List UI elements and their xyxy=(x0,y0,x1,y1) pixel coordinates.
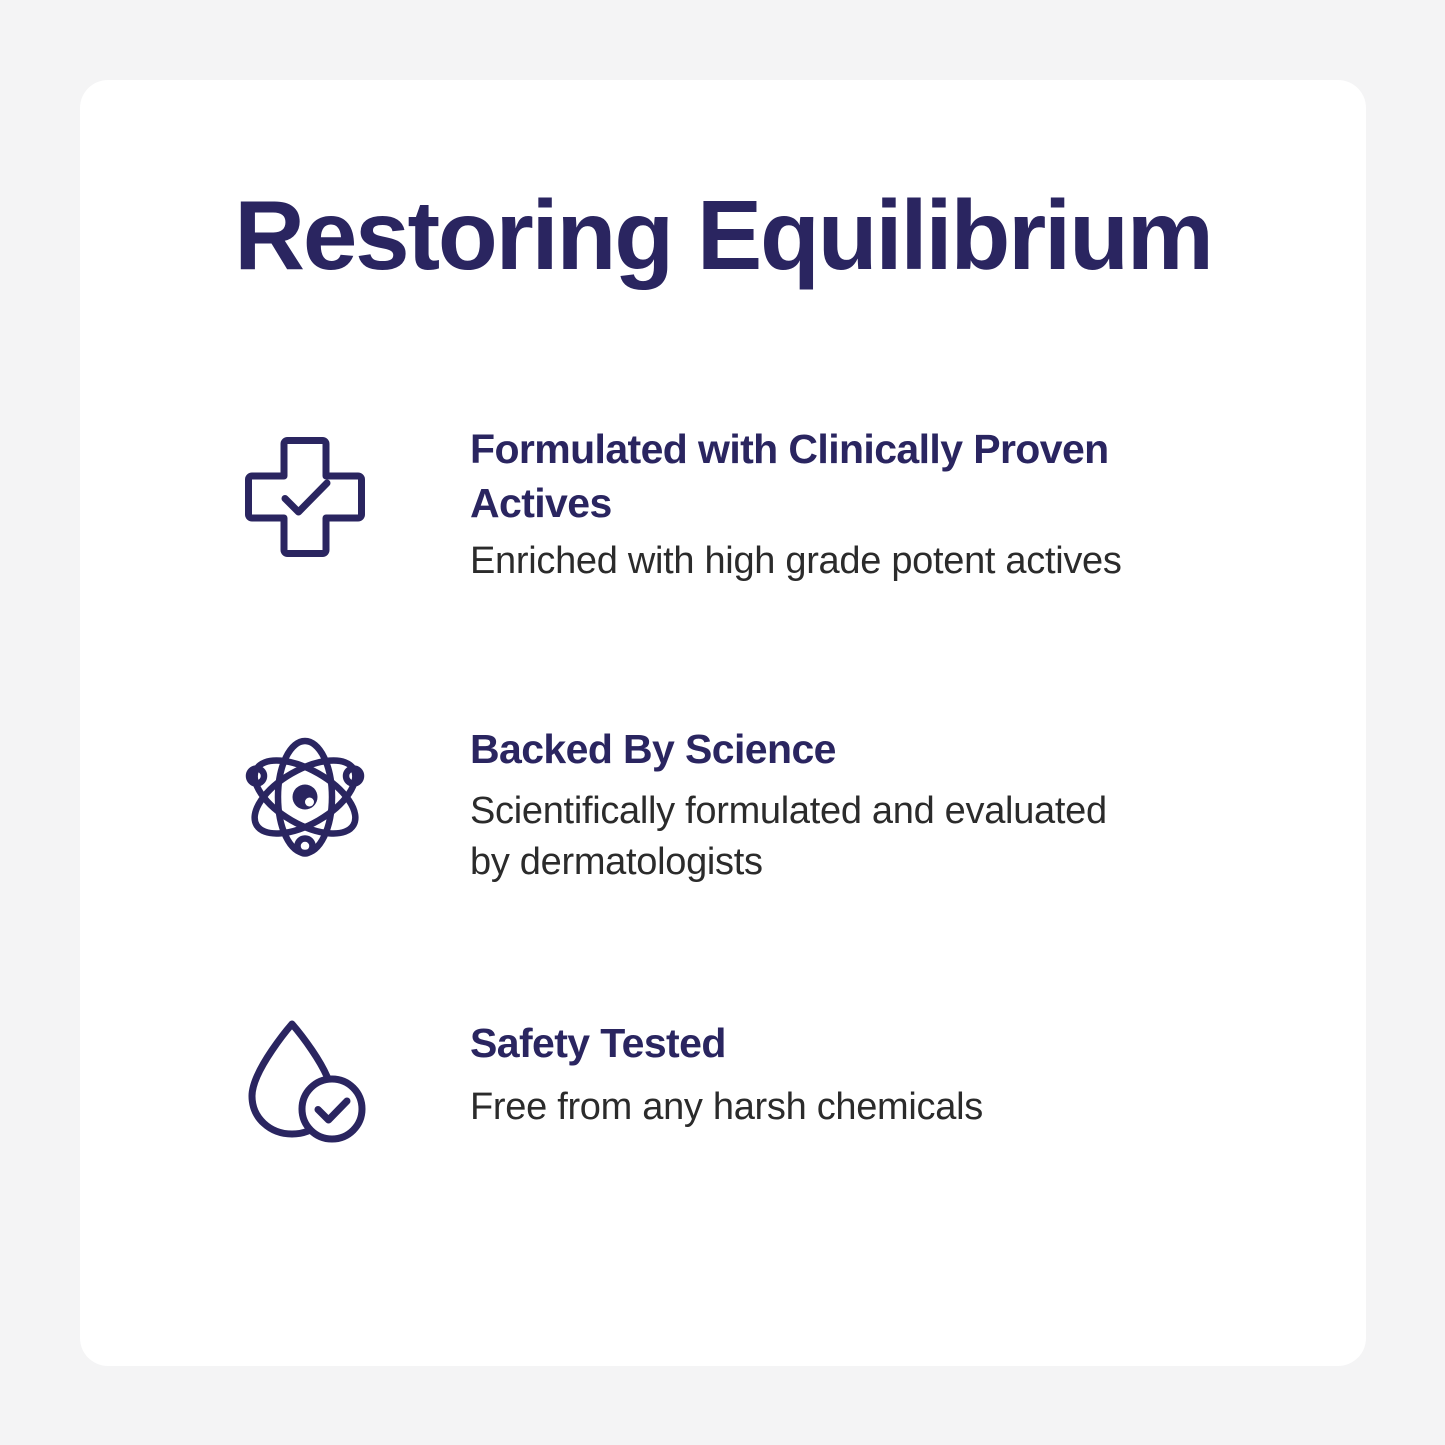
feature-text-block: Safety Tested Free from any harsh chemic… xyxy=(375,1010,1145,1133)
feature-item-formulated: Formulated with Clinically Proven Active… xyxy=(80,420,1366,720)
medical-cross-check-icon xyxy=(240,432,375,567)
feature-card: Restoring Equilibrium Formulated with Cl… xyxy=(80,80,1366,1366)
feature-heading: Safety Tested xyxy=(470,1016,1145,1070)
feature-item-science: Backed By Science Scientifically formula… xyxy=(80,720,1366,1010)
feature-description: Enriched with high grade potent actives xyxy=(470,536,1145,587)
feature-description: Scientifically formulated and evaluated … xyxy=(470,786,1145,887)
feature-heading: Formulated with Clinically Proven Active… xyxy=(470,422,1145,530)
feature-item-safety: Safety Tested Free from any harsh chemic… xyxy=(80,1010,1366,1210)
feature-text-block: Formulated with Clinically Proven Active… xyxy=(375,420,1145,587)
water-droplet-check-icon xyxy=(240,1014,375,1149)
feature-description: Free from any harsh chemicals xyxy=(470,1082,1145,1133)
feature-heading: Backed By Science xyxy=(470,722,1145,776)
feature-list: Formulated with Clinically Proven Active… xyxy=(80,420,1366,1210)
atom-icon xyxy=(240,732,375,867)
feature-text-block: Backed By Science Scientifically formula… xyxy=(375,720,1145,887)
page-root: Restoring Equilibrium Formulated with Cl… xyxy=(0,0,1445,1445)
page-title: Restoring Equilibrium xyxy=(80,184,1366,287)
